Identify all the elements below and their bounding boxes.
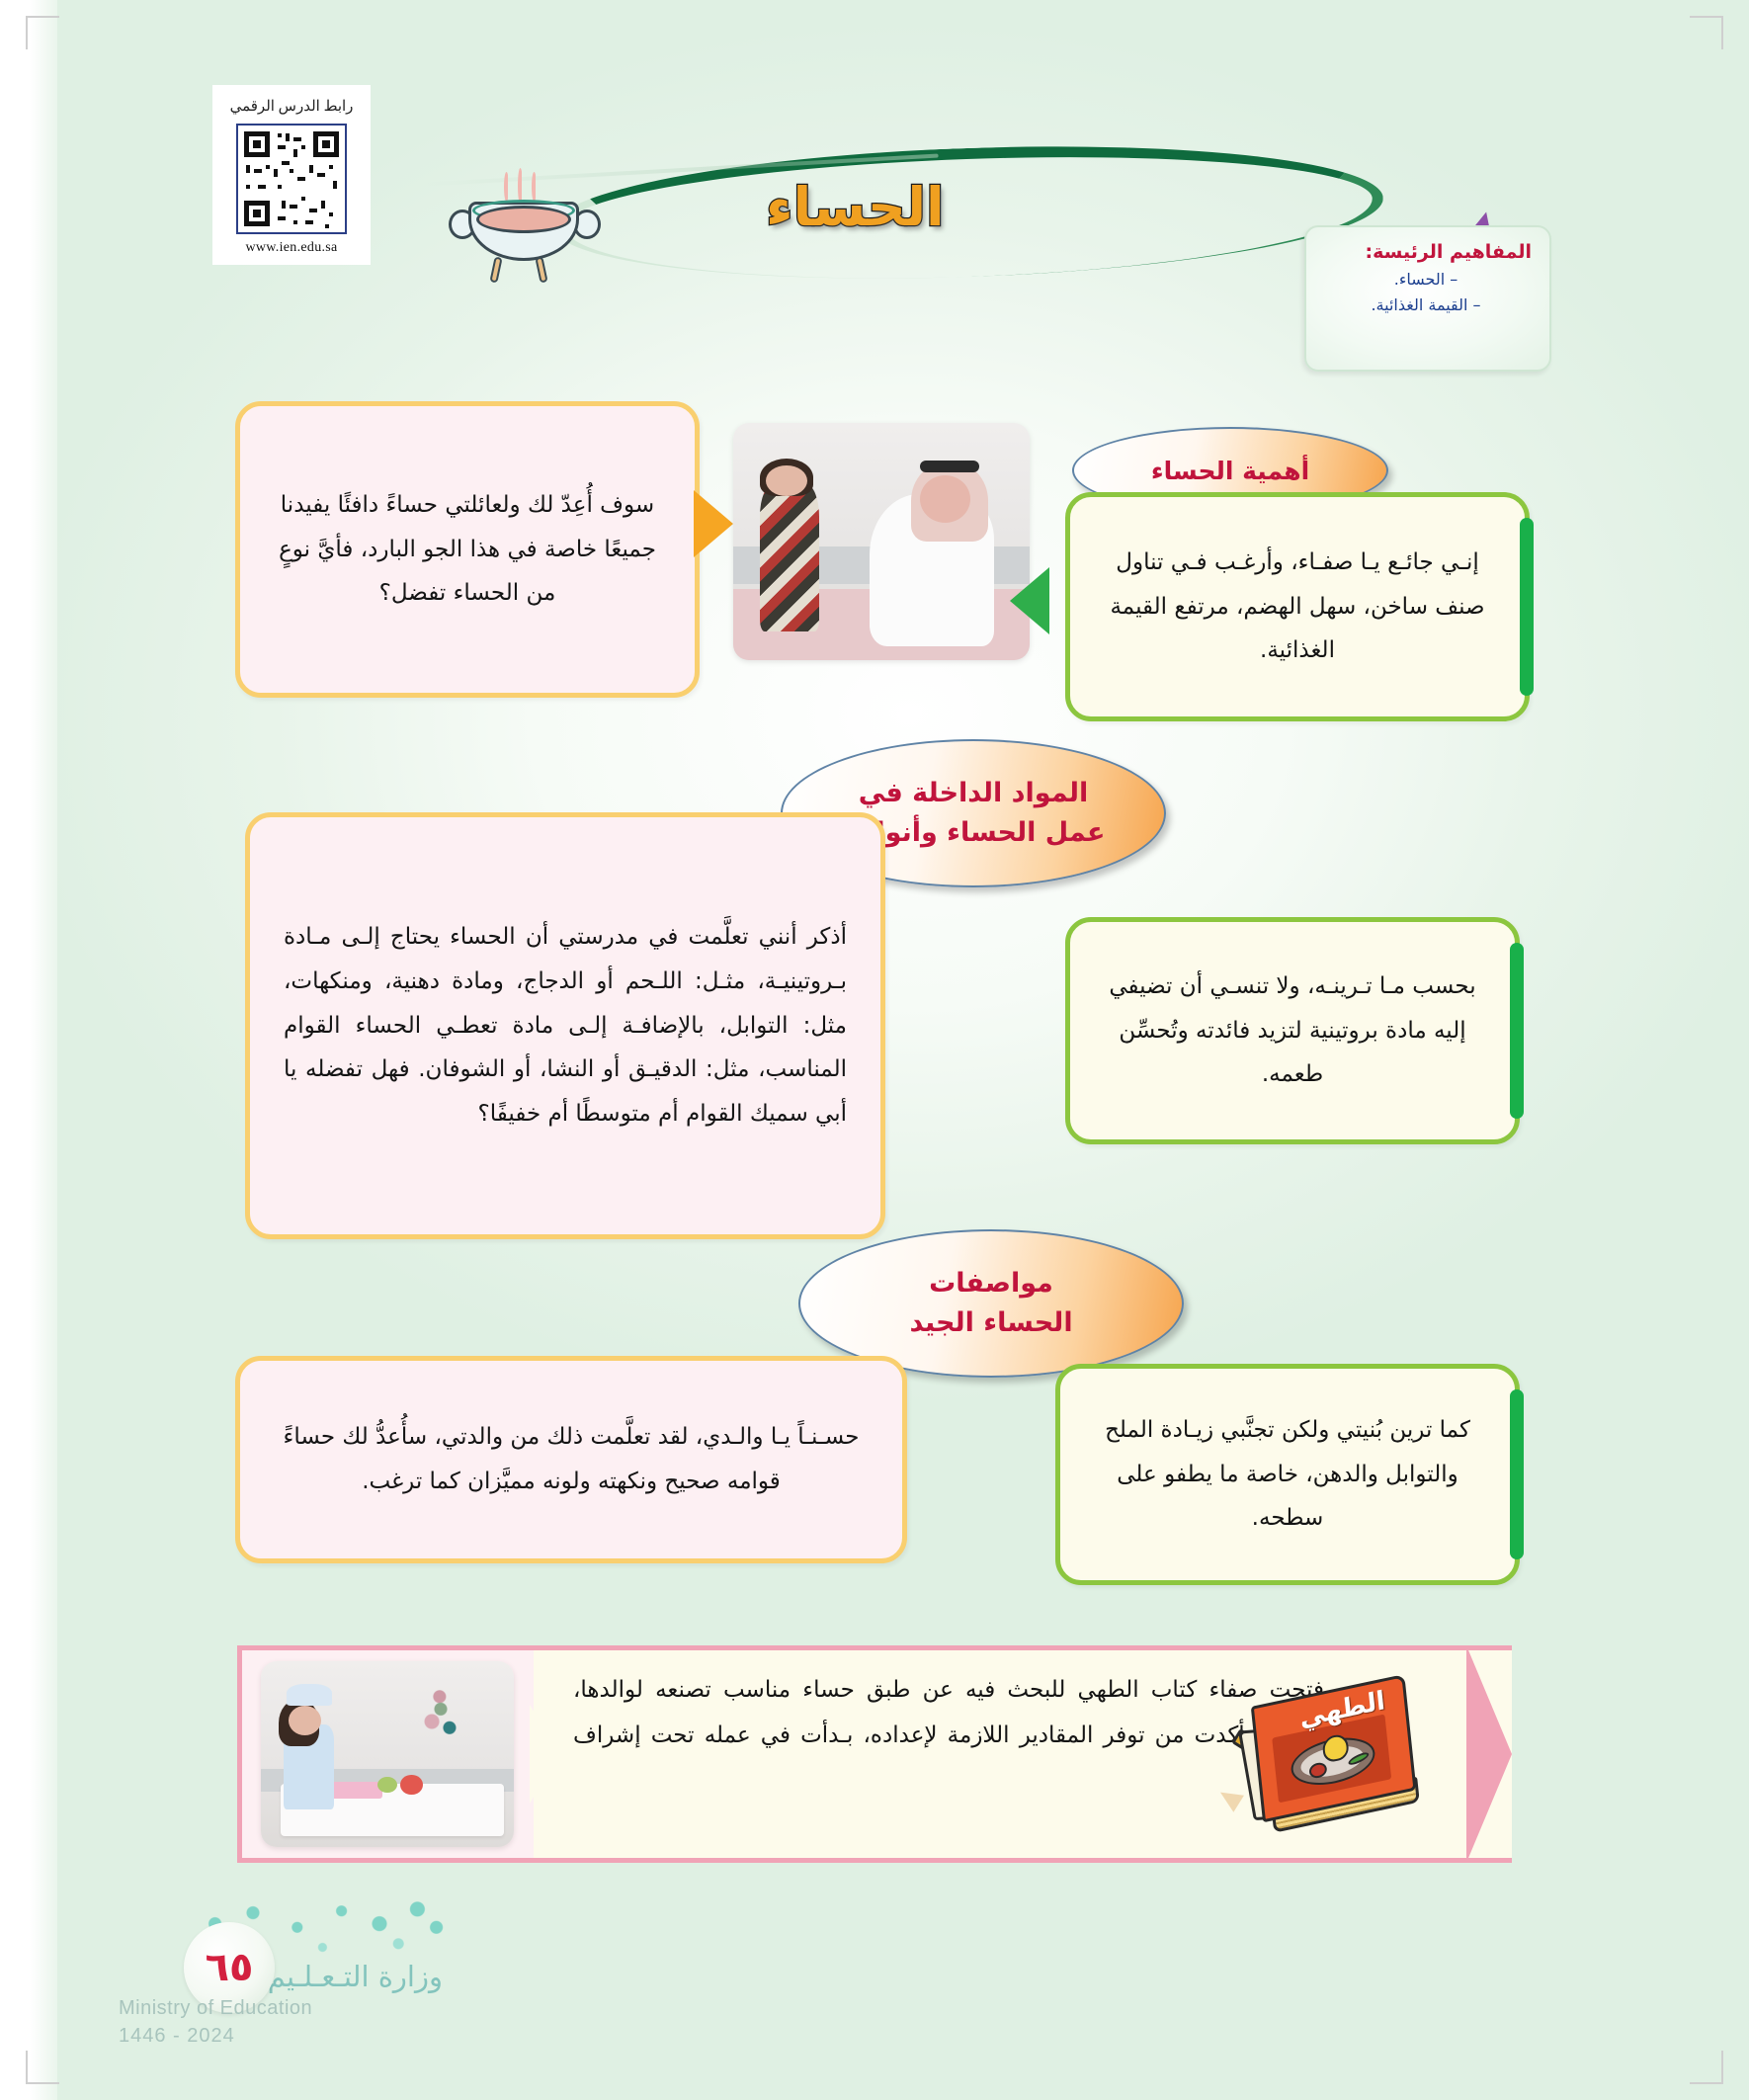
section3-pink-text: حسـنـاً يـا والـدي، لقد تعلَّمت ذلك من و…: [270, 1415, 873, 1504]
crop-mark-bottom-left: [26, 2051, 59, 2084]
section1-pink-tail: [694, 490, 733, 557]
key-concepts-title: المفاهيم الرئيسة:: [1320, 241, 1532, 263]
crop-mark-top-right: [1690, 16, 1723, 49]
girl-cooking-photo: [261, 1661, 514, 1847]
page-left-edge: [0, 0, 57, 2100]
father-and-daughter-photo: [733, 423, 1030, 660]
section3-green-text: كما ترين بُنيتي ولكن تجنَّبي زيـادة المل…: [1090, 1408, 1485, 1542]
section3-heading-line1: مواصفات: [929, 1264, 1053, 1304]
digital-lesson-qr-panel[interactable]: رابط الدرس الرقمي: [212, 85, 371, 265]
qr-caption: رابط الدرس الرقمي: [230, 97, 354, 116]
page-footer: وزارة التـعـلـيم ٦٥ Ministry of Educatio…: [99, 1887, 553, 2064]
ministry-name-arabic: وزارة التـعـلـيم: [117, 1960, 443, 1993]
cooking-book-icon: الطهي: [1229, 1672, 1443, 1850]
key-concept-item-1: الحساء.: [1320, 270, 1532, 289]
key-concepts-list: الحساء. القيمة الغذائية.: [1320, 270, 1532, 314]
section2-pink-bubble: أذكر أنني تعلَّمت في مدرستي أن الحساء يح…: [245, 812, 885, 1239]
page-title: الحساء: [766, 176, 945, 238]
section1-green-text: إنـي جائـع يـا صفـاء، وأرغـب فـي تناول ص…: [1100, 541, 1495, 674]
textbook-page: رابط الدرس الرقمي: [0, 0, 1749, 2100]
key-concept-item-2: القيمة الغذائية.: [1320, 295, 1532, 314]
section1-pink-text: سوف أُعِدّ لك ولعائلتي حساءً دافئًا يفيد…: [270, 483, 665, 617]
section1-green-tail: [1010, 567, 1049, 634]
page-number: ٦٥: [206, 1945, 254, 1990]
title-swoosh-decoration: [551, 133, 1385, 291]
ministry-name-english: Ministry of Education: [119, 1997, 312, 2020]
crop-mark-top-left: [26, 16, 59, 49]
section3-green-bubble: كما ترين بُنيتي ولكن تجنَّبي زيـادة المل…: [1055, 1364, 1520, 1585]
footer-year: 2024 - 1446: [119, 2025, 235, 2048]
section3-pink-bubble: حسـنـاً يـا والـدي، لقد تعلَّمت ذلك من و…: [235, 1356, 907, 1563]
crop-mark-bottom-right: [1690, 2051, 1723, 2084]
soup-bowl-mascot-icon: [447, 170, 605, 289]
qr-url-label: www.ien.edu.sa: [245, 240, 337, 256]
section1-heading-label: أهمية الحساء: [1151, 457, 1309, 485]
bottom-summary-text: فتحت صفاء كتاب الطهي للبحث فيه عن طبق حس…: [573, 1667, 1324, 1804]
section2-green-bubble: بحسب مـا تـرينـه، ولا تنسـي أن تضيفي إلي…: [1065, 917, 1520, 1144]
section2-pink-text: أذكر أنني تعلَّمت في مدرستي أن الحساء يح…: [284, 915, 847, 1136]
qr-code-icon[interactable]: [236, 124, 347, 234]
section1-green-bubble: إنـي جائـع يـا صفـاء، وأرغـب فـي تناول ص…: [1065, 492, 1530, 721]
section2-heading-line1: المواد الداخلة في: [859, 774, 1088, 814]
section2-green-text: بحسب مـا تـرينـه، ولا تنسـي أن تضيفي إلي…: [1100, 965, 1485, 1098]
section1-pink-bubble: سوف أُعِدّ لك ولعائلتي حساءً دافئًا يفيد…: [235, 401, 700, 698]
key-concepts-card: المفاهيم الرئيسة: الحساء. القيمة الغذائي…: [1304, 225, 1551, 372]
section3-heading-line2: الحساء الجيد: [909, 1303, 1072, 1344]
